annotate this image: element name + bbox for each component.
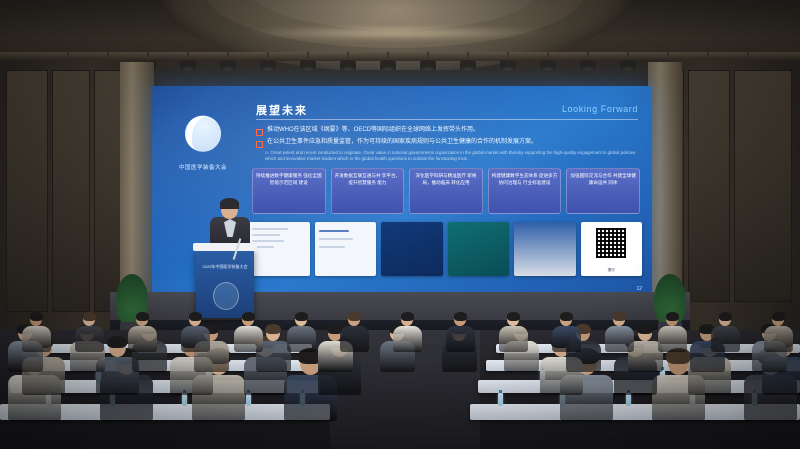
slide-logo: 中国医学装备大会 — [166, 104, 240, 190]
audience-member — [446, 313, 475, 352]
audience-member-torso — [340, 326, 369, 351]
audience-member-torso — [287, 326, 316, 351]
slide-bullet-list: 推动WHO在该区域《纲要》等、OECD等国际组织在全球网络上发挥带头作用。 在公… — [256, 126, 640, 164]
bullet-square-icon — [256, 129, 263, 136]
qr-code-panel: 搜行 — [581, 222, 643, 276]
audience-member-torso — [499, 326, 528, 351]
water-bottle — [182, 393, 187, 406]
slide-card-text: 深化医学科研与精准医疗 新格局，推动临床 转化应用 — [413, 173, 479, 187]
slide-card: 深化医学科研与精准医疗 新格局，推动临床 转化应用 — [409, 168, 483, 214]
audience-member-hair — [107, 336, 127, 349]
audience-member — [340, 313, 369, 352]
qr-code-icon — [596, 228, 626, 258]
audience-member-torso — [75, 326, 104, 351]
slide-card-text: 开发数据互联互通与共 享平台，提升智慧服务 能力 — [335, 173, 401, 187]
slide-bullet-item: 在公共卫生事件应急和质量监管，作为可持续的国家疾病规则与公共卫生健康的合作的机制… — [256, 138, 640, 148]
app-screenshot-2 — [315, 222, 377, 276]
audience-member-hair — [295, 312, 308, 320]
audience-member-torso — [446, 326, 475, 351]
slide-card: 构建健康数字生态体系 促进多方协同治理与 行业标准建设 — [488, 168, 562, 214]
audience-member-hair — [666, 312, 679, 320]
audience-member-hair — [189, 312, 202, 320]
slide-title-cn: 展望未来 — [256, 102, 308, 118]
conference-logo-icon — [178, 104, 228, 158]
audience-member — [658, 313, 687, 352]
audience-member-torso — [181, 326, 210, 351]
slide-title-rule — [256, 119, 638, 120]
audience-member — [393, 313, 422, 352]
slide-card-text: 构建健康数字生态体系 促进多方协同治理与 行业标准建设 — [492, 173, 558, 187]
audience-member-hair — [613, 312, 626, 320]
audience-member-hair — [30, 312, 43, 320]
podium-banner-text: 2025年中国医学装备大会 — [201, 264, 249, 270]
audience-member — [605, 313, 634, 352]
ceiling-cove-glow — [236, 26, 554, 40]
audience-member-torso — [234, 326, 263, 351]
audience-member-hair — [83, 312, 96, 320]
audience-member — [552, 313, 581, 352]
wall-panel — [688, 70, 730, 302]
slide-card: 加强国际交流与合作 共建全球健康命运共 同体 — [566, 168, 640, 214]
app-screenshot-5 — [514, 222, 576, 276]
slide-bullet-item: 推动WHO在该区域《纲要》等、OECD等国际组织在全球网络上发挥带头作用。 — [256, 126, 640, 136]
slide-card: 持续推进数字健康服务 强化全国智能示范区域 建设 — [252, 168, 326, 214]
app-screenshot-4 — [448, 222, 510, 276]
audience-member-hair — [401, 312, 414, 320]
app-screenshot-1 — [248, 222, 310, 276]
slide-bullet-subtext: A. Great extent and recent conducted to … — [256, 150, 640, 162]
bullet-english-note: A. Great extent and recent conducted to … — [265, 150, 640, 162]
audience-member-hair — [242, 312, 255, 320]
slide-card-row: 持续推进数字健康服务 强化全国智能示范区域 建设开发数据互联互通与共 享平台，提… — [252, 168, 640, 214]
audience-member-hair — [637, 324, 653, 334]
audience-member-torso — [128, 326, 157, 351]
slide-card-text: 持续推进数字健康服务 强化全国智能示范区域 建设 — [256, 173, 322, 187]
audience-member-torso — [658, 326, 687, 351]
audience-member-hair — [348, 312, 361, 320]
wall-panel — [734, 70, 792, 302]
audience-member — [22, 313, 51, 352]
audience-member — [764, 313, 793, 352]
audience-member-torso — [605, 326, 634, 351]
wall-panel — [52, 70, 90, 312]
audience-member — [287, 313, 316, 352]
audience-member-hair — [454, 312, 467, 320]
slide-screenshot-row: 搜行 — [248, 222, 642, 276]
conference-hall-photo: 中国医学装备大会 展望未来 Looking Forward 推动WHO在该区域《… — [0, 0, 800, 449]
slide-card: 开发数据互联互通与共 享平台，提升智慧服务 能力 — [331, 168, 405, 214]
audience-member-torso — [393, 326, 422, 351]
bullet-text: 在公共卫生事件应急和质量监管，作为可持续的国家疾病规则与公共卫生健康的合作的机制… — [267, 138, 537, 148]
audience-member — [181, 313, 210, 352]
slide-title-en: Looking Forward — [562, 104, 638, 114]
podium-top-surface — [193, 243, 257, 251]
app-screenshot-3 — [381, 222, 443, 276]
podium-emblem-icon — [213, 282, 239, 310]
audience-member-hair — [265, 324, 281, 334]
slide-logo-caption: 中国医学装备大会 — [166, 163, 240, 171]
podium: 2025年中国医学装备大会 — [196, 248, 254, 318]
bullet-square-icon — [256, 141, 263, 148]
audience-member-hair — [772, 312, 785, 320]
water-bottle — [498, 393, 503, 406]
audience-member-hair — [136, 312, 149, 320]
audience-member-hair — [719, 312, 732, 320]
audience-member — [711, 313, 740, 352]
water-bottle — [626, 393, 631, 406]
audience-member-torso — [552, 326, 581, 351]
slide-card-text: 加强国际交流与合作 共建全球健康命运共 同体 — [570, 173, 636, 187]
water-bottle — [246, 393, 251, 406]
audience-member-hair — [560, 312, 573, 320]
audience-member-torso — [22, 326, 51, 351]
bullet-text: 推动WHO在该区域《纲要》等、OECD等国际组织在全球网络上发挥带头作用。 — [267, 126, 479, 136]
audience-member-torso — [764, 326, 793, 351]
qr-code-label: 搜行 — [581, 268, 643, 273]
audience-member — [499, 313, 528, 352]
audience-member-torso — [711, 326, 740, 351]
audience-member — [128, 313, 157, 352]
wall-panel — [6, 70, 48, 312]
audience-member — [234, 313, 263, 352]
speaker-hair — [220, 198, 239, 209]
audience-member — [75, 313, 104, 352]
audience-member-hair — [507, 312, 520, 320]
